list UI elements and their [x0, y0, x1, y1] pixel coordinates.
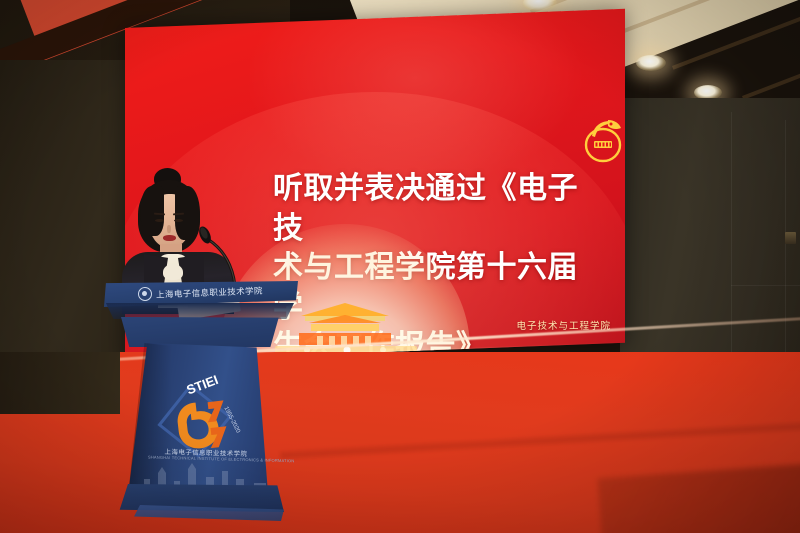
- nose: [167, 225, 171, 233]
- school-seal-icon: [138, 286, 153, 301]
- communist-youth-league-emblem: [578, 112, 625, 164]
- mouth: [163, 235, 176, 241]
- podium-neck: [116, 317, 282, 347]
- hair-front-left: [140, 186, 164, 236]
- downlight-icon: [636, 55, 666, 71]
- wall-mounted-fixture: [785, 232, 796, 244]
- screen-glow-top: [245, 9, 585, 188]
- podium: 上海电子信息职业技术学院 STIEI 1955-2020 上海电子信息职业技术学…: [96, 281, 311, 533]
- eye-left: [155, 219, 164, 222]
- wall-seam: [731, 285, 800, 286]
- stage-photograph: 听取并表决通过《电子技 术与工程学院第十六届学 生会工作报告》: [0, 0, 800, 533]
- eye-right: [174, 219, 183, 222]
- podium-lip: [104, 303, 294, 319]
- blouse-bow: [163, 264, 183, 280]
